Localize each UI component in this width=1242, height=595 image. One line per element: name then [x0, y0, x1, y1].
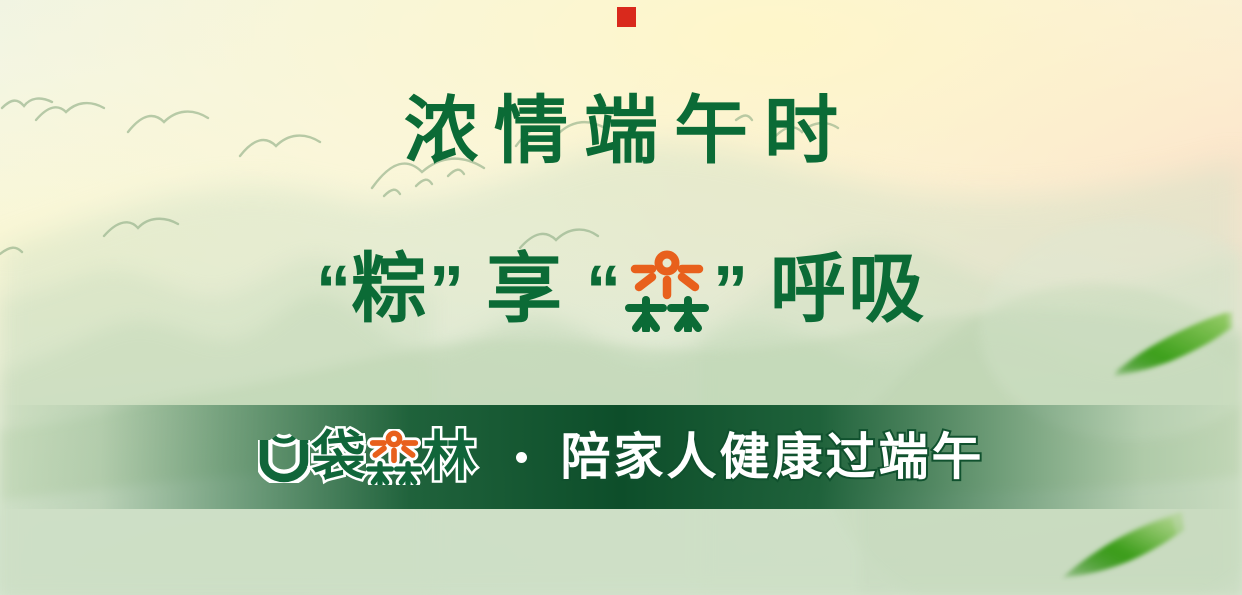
ribbon-tagline: 陪家人健康过端午: [561, 431, 985, 483]
open-quote-1: “: [316, 250, 351, 330]
ribbon-content: 袋: [0, 405, 1242, 509]
close-quote-2: ”: [713, 250, 748, 330]
char-xiang: 享: [486, 250, 564, 330]
char-zong: 粽: [351, 250, 429, 330]
char-huxi: 呼吸: [770, 250, 926, 330]
sen-forest-glyph-icon: [625, 248, 709, 332]
logo-char-dai: 袋: [312, 430, 365, 484]
pocket-bag-icon: [258, 431, 310, 483]
separator-dot-icon: [516, 452, 527, 463]
ribbon-tagline-text: 陪家人健康过端午: [561, 429, 985, 485]
festival-banner: 浓情端午时 “ 粽 ” 享 “: [0, 0, 1242, 595]
logo-char-lin: 林: [423, 430, 476, 484]
close-quote-1: ”: [429, 250, 464, 330]
brand-logo: 袋: [258, 429, 476, 485]
red-square-mark: [617, 7, 636, 27]
open-quote-2: “: [586, 250, 621, 330]
headline-line-1: 浓情端午时: [0, 94, 1242, 168]
headline-line-2: “ 粽 ” 享 “: [0, 248, 1242, 332]
logo-sen-forest-icon: [366, 429, 422, 485]
